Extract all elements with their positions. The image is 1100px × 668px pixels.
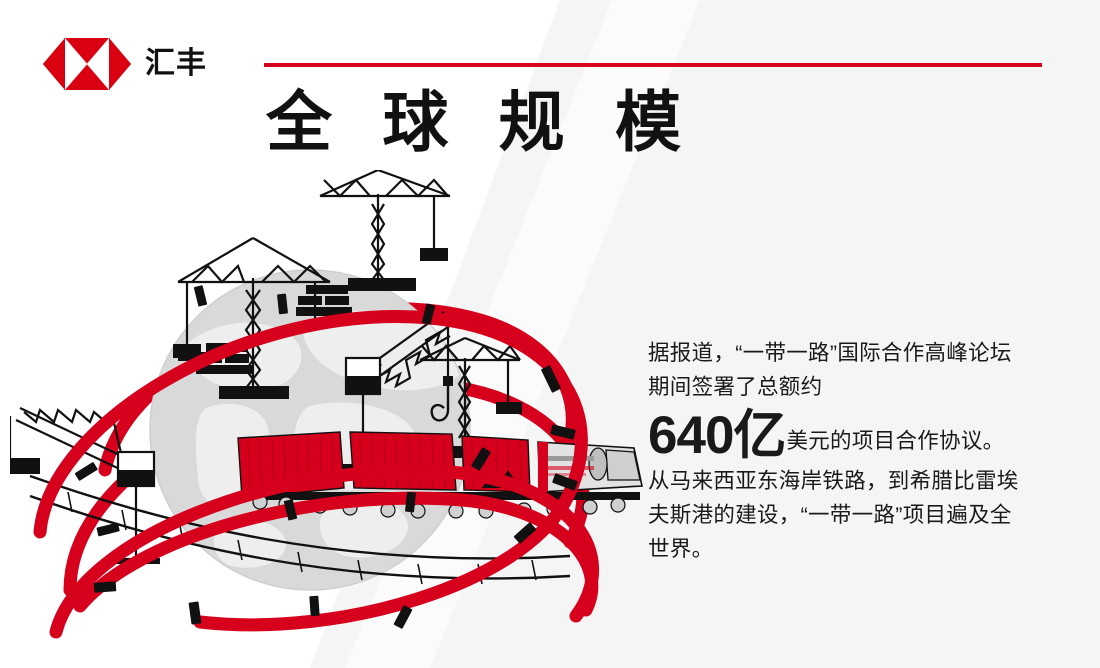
body-line-highlight: 640亿美元的项目合作协议。: [648, 408, 1048, 464]
body-line-1: 据报道，“一带一路”国际合作高峰论坛: [648, 336, 1048, 370]
page-title: 全 球 规 模: [266, 86, 697, 160]
infographic-page: 汇丰 全 球 规 模: [0, 0, 1100, 668]
hsbc-hexagon-icon: [43, 38, 131, 90]
body-line-3: 美元的项目合作协议。: [786, 429, 1004, 453]
globe-construction-illustration: [10, 170, 650, 660]
brand-name: 汇丰: [145, 49, 207, 79]
body-copy: 据报道，“一带一路”国际合作高峰论坛 期间签署了总额约 640亿美元的项目合作协…: [648, 336, 1048, 566]
body-line-4: 从马来西亚东海岸铁路，到希腊比雷埃: [648, 464, 1048, 498]
body-line-2: 期间签署了总额约: [648, 370, 1048, 404]
highlight-number: 640亿: [648, 406, 785, 465]
locomotive-icon: [538, 442, 642, 492]
brand-logo: 汇丰: [43, 38, 207, 90]
header-divider-rule: [264, 63, 1042, 67]
body-line-5: 夫斯港的建设，“一带一路”项目遍及全: [648, 498, 1048, 532]
body-line-6: 世界。: [648, 532, 1048, 566]
